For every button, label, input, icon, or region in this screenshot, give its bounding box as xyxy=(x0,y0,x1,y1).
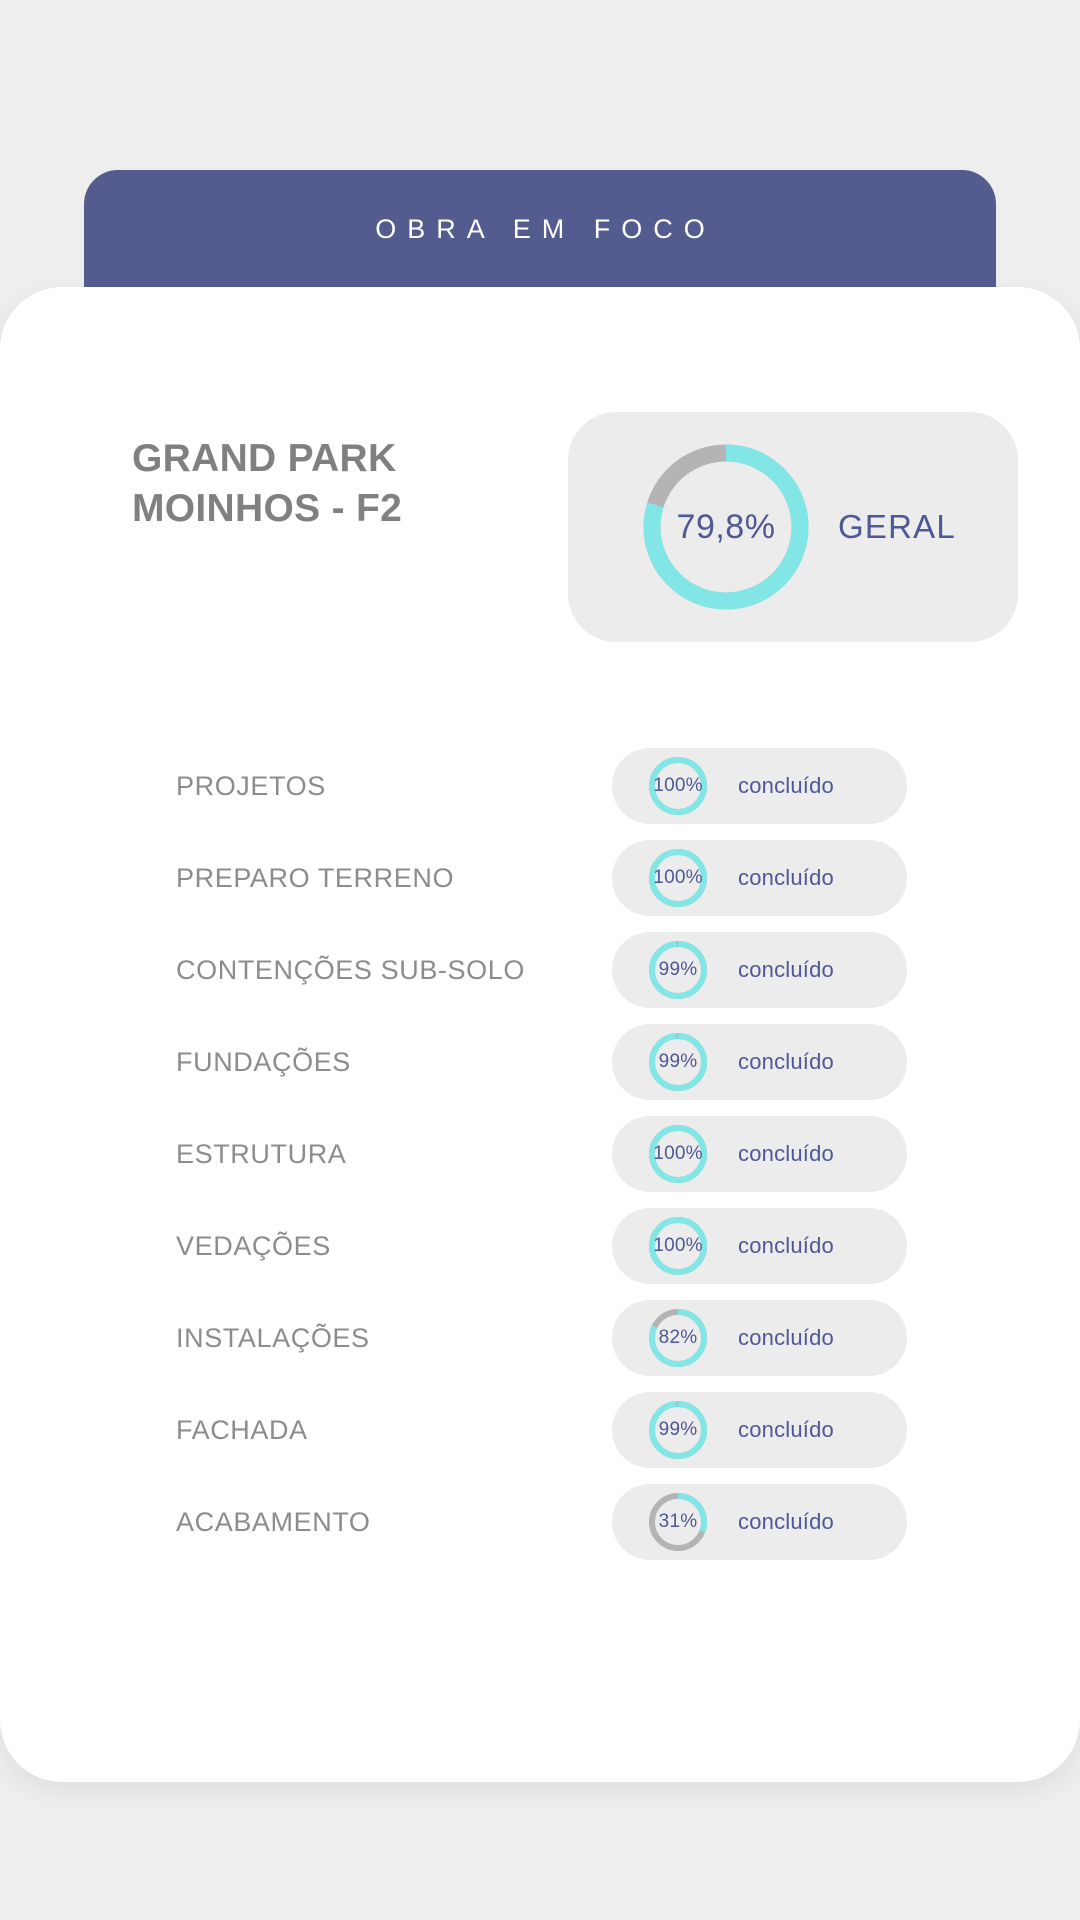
progress-donut-chart: 100% xyxy=(646,846,710,910)
progress-percent-value: 99% xyxy=(646,938,710,1002)
progress-row-label: FUNDAÇÕES xyxy=(176,1047,351,1078)
progress-percent-value: 100% xyxy=(646,1214,710,1278)
progress-status-label: concluído xyxy=(738,1509,834,1535)
progress-row-pill: 82%concluído xyxy=(612,1300,907,1376)
progress-row: ESTRUTURA100%concluído xyxy=(0,1108,1080,1200)
progress-row: ACABAMENTO31%concluído xyxy=(0,1476,1080,1568)
progress-status-label: concluído xyxy=(738,957,834,983)
progress-row-label: INSTALAÇÕES xyxy=(176,1323,370,1354)
progress-row-label: PREPARO TERRENO xyxy=(176,863,454,894)
progress-row-label: PROJETOS xyxy=(176,771,326,802)
progress-donut-chart: 99% xyxy=(646,938,710,1002)
progress-row-pill: 99%concluído xyxy=(612,932,907,1008)
progress-row: INSTALAÇÕES82%concluído xyxy=(0,1292,1080,1384)
progress-status-label: concluído xyxy=(738,1417,834,1443)
progress-row: VEDAÇÕES100%concluído xyxy=(0,1200,1080,1292)
progress-row: PREPARO TERRENO100%concluído xyxy=(0,832,1080,924)
progress-percent-value: 31% xyxy=(646,1490,710,1554)
progress-row-label: FACHADA xyxy=(176,1415,308,1446)
progress-donut-chart: 82% xyxy=(646,1306,710,1370)
progress-status-label: concluído xyxy=(738,1325,834,1351)
progress-donut-chart: 31% xyxy=(646,1490,710,1554)
progress-row-pill: 100%concluído xyxy=(612,840,907,916)
page-title: GRAND PARK MOINHOS - F2 xyxy=(132,434,532,534)
summary-section: GRAND PARK MOINHOS - F2 79,8% GERAL xyxy=(0,412,1080,642)
progress-row: CONTENÇÕES SUB-SOLO99%concluído xyxy=(0,924,1080,1016)
progress-percent-value: 99% xyxy=(646,1030,710,1094)
header-banner: OBRA EM FOCO xyxy=(84,170,996,288)
progress-donut-chart: 99% xyxy=(646,1398,710,1462)
progress-percent-value: 100% xyxy=(646,846,710,910)
progress-donut-chart: 100% xyxy=(646,1214,710,1278)
progress-donut-chart: 100% xyxy=(646,754,710,818)
progress-row: PROJETOS100%concluído xyxy=(0,740,1080,832)
progress-row-pill: 100%concluído xyxy=(612,1116,907,1192)
overall-percent-value: 79,8% xyxy=(636,437,816,617)
progress-row-label: ESTRUTURA xyxy=(176,1139,346,1170)
progress-row-pill: 100%concluído xyxy=(612,748,907,824)
progress-percent-value: 99% xyxy=(646,1398,710,1462)
progress-status-label: concluído xyxy=(738,865,834,891)
progress-row-label: VEDAÇÕES xyxy=(176,1231,331,1262)
main-card: GRAND PARK MOINHOS - F2 79,8% GERAL PROJ… xyxy=(0,287,1080,1782)
progress-row-pill: 100%concluído xyxy=(612,1208,907,1284)
progress-row-label: ACABAMENTO xyxy=(176,1507,371,1538)
overall-progress-pill: 79,8% GERAL xyxy=(568,412,1018,642)
progress-row: FACHADA99%concluído xyxy=(0,1384,1080,1476)
progress-status-label: concluído xyxy=(738,1141,834,1167)
overall-donut-chart: 79,8% xyxy=(636,437,816,617)
progress-row-pill: 99%concluído xyxy=(612,1392,907,1468)
progress-percent-value: 82% xyxy=(646,1306,710,1370)
progress-status-label: concluído xyxy=(738,1049,834,1075)
progress-row-pill: 31%concluído xyxy=(612,1484,907,1560)
progress-percent-value: 100% xyxy=(646,754,710,818)
progress-row-pill: 99%concluído xyxy=(612,1024,907,1100)
progress-percent-value: 100% xyxy=(646,1122,710,1186)
progress-row: FUNDAÇÕES99%concluído xyxy=(0,1016,1080,1108)
progress-row-label: CONTENÇÕES SUB-SOLO xyxy=(176,955,525,986)
progress-status-label: concluído xyxy=(738,1233,834,1259)
banner-title: OBRA EM FOCO xyxy=(364,214,716,245)
overall-caption: GERAL xyxy=(838,508,956,546)
progress-donut-chart: 99% xyxy=(646,1030,710,1094)
progress-status-label: concluído xyxy=(738,773,834,799)
progress-row-list: PROJETOS100%concluídoPREPARO TERRENO100%… xyxy=(0,740,1080,1568)
progress-donut-chart: 100% xyxy=(646,1122,710,1186)
